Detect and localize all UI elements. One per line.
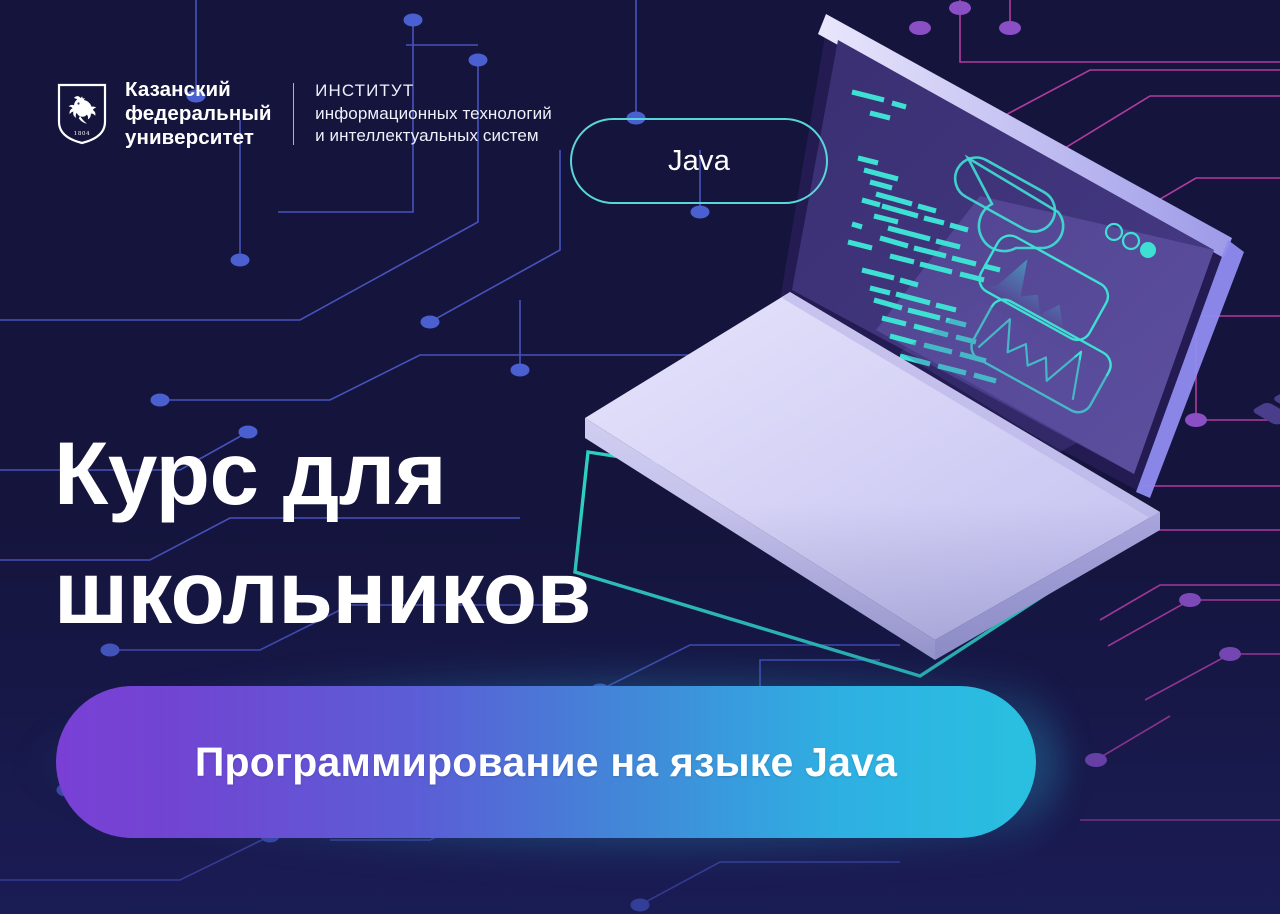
isometric-laptop-illustration: [575, 14, 1280, 676]
java-tag-label: Java: [668, 145, 730, 178]
kfu-itis-logo: 1804 Казанский федеральный университет И…: [56, 78, 552, 150]
page-title: Курс для школьников: [54, 414, 591, 653]
java-tag-chip[interactable]: Java: [570, 118, 828, 204]
headline-line-1: Курс для: [54, 423, 446, 523]
course-title-banner[interactable]: Программирование на языке Java: [56, 686, 1036, 838]
svg-text:1804: 1804: [74, 131, 91, 137]
logo-divider: [293, 83, 295, 145]
course-promo-banner: 1804 Казанский федеральный университет И…: [0, 0, 1280, 914]
course-title-banner-wrap: Программирование на языке Java: [56, 686, 1036, 838]
university-name: Казанский федеральный университет: [125, 78, 272, 150]
headline-line-2: школьников: [54, 533, 591, 652]
course-title-label: Программирование на языке Java: [195, 739, 897, 786]
institute-name: ИНСТИТУТ информационных технологий и инт…: [315, 80, 552, 148]
kfu-shield-zilant-crest-icon: 1804: [56, 82, 108, 146]
